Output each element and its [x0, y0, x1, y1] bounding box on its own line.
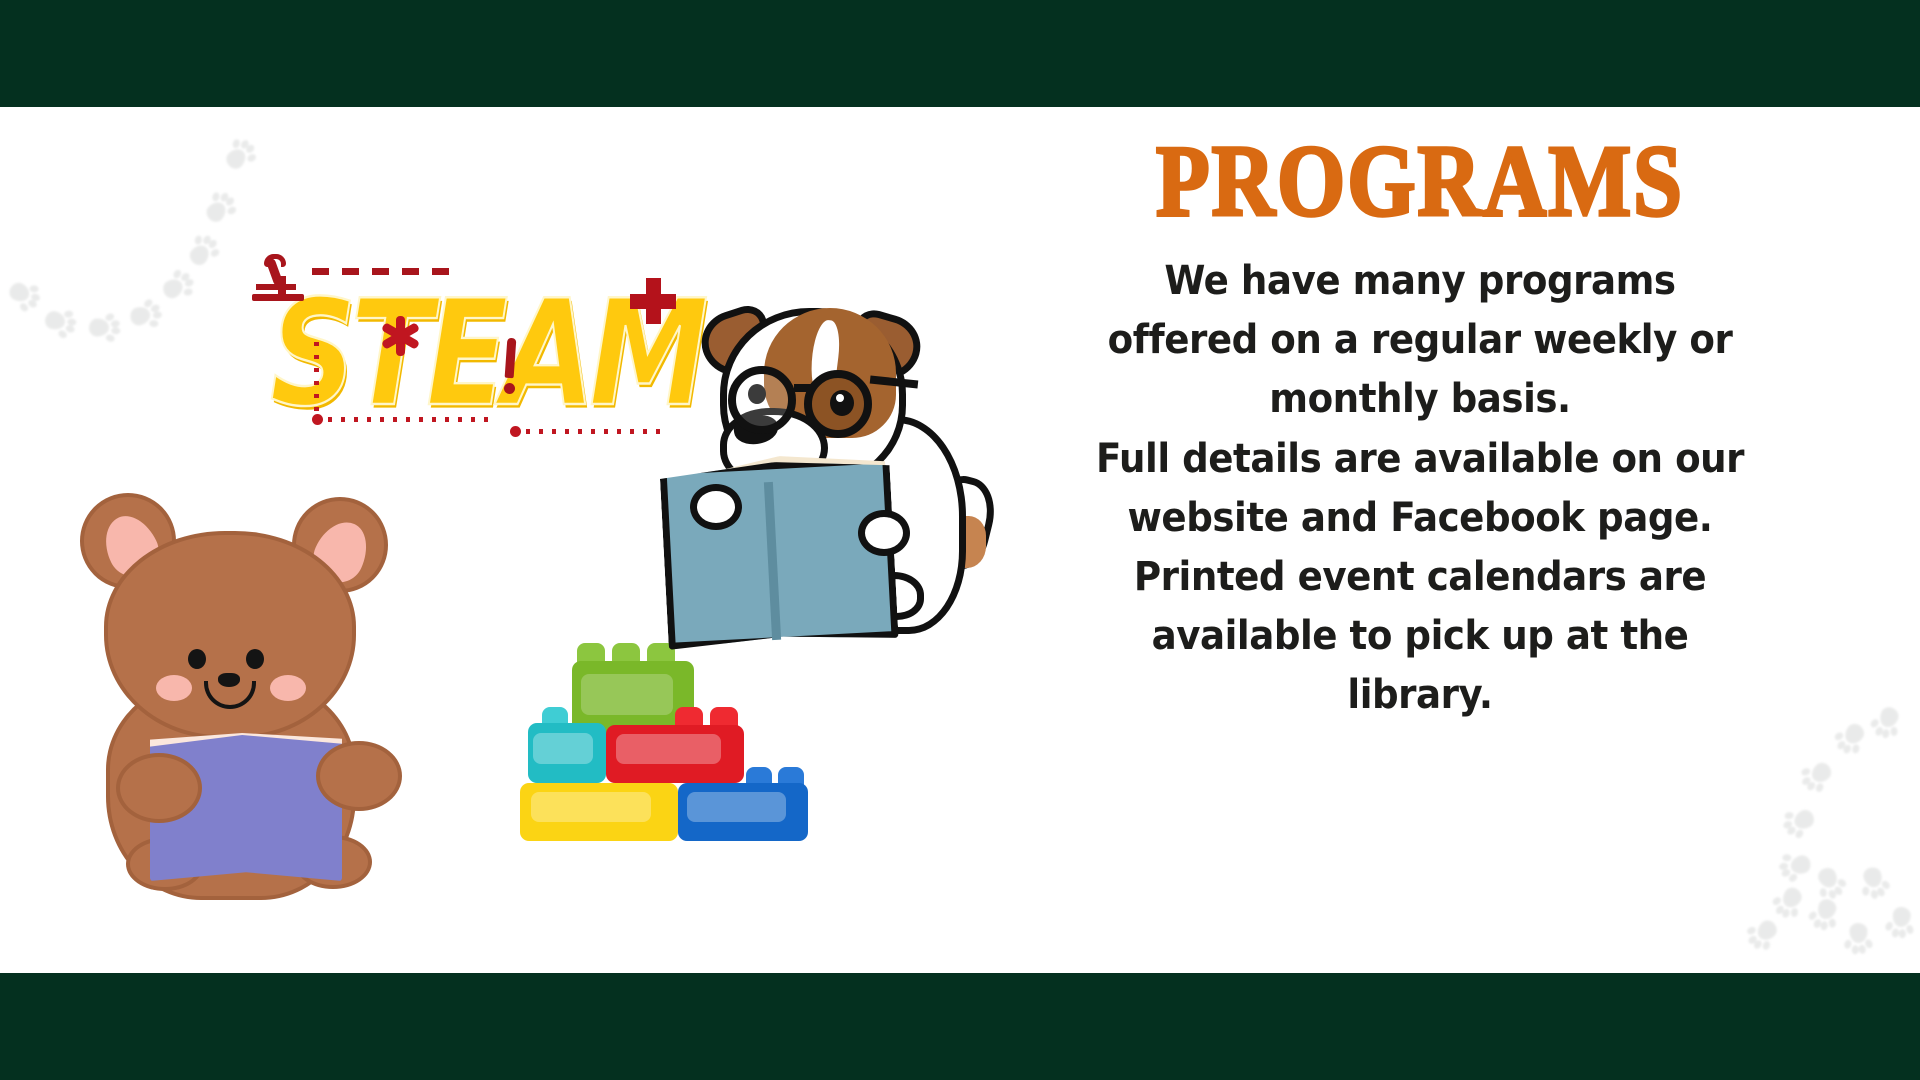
paw-print-icon — [4, 276, 46, 314]
paw-print-icon — [1869, 703, 1905, 744]
dog-reading-illustration — [672, 286, 1012, 656]
page-title: PROGRAMS — [1012, 130, 1828, 231]
dotted-trail-decoration — [312, 416, 492, 422]
asterisk-icon — [380, 316, 420, 356]
glasses-lens-left-icon — [728, 366, 796, 434]
dog-paw-right — [858, 510, 910, 556]
paw-print-icon — [1845, 921, 1873, 957]
steam-logo: STEAM — [252, 260, 702, 450]
bear-eye-left — [188, 649, 206, 669]
slide-canvas: STEAM — [0, 0, 1920, 1080]
paw-print-icon — [157, 265, 200, 306]
block-blue — [678, 783, 808, 841]
paw-print-icon — [87, 313, 123, 341]
body-line: offered on a regular weekly or — [1048, 311, 1792, 370]
body-line: Printed event calendars are — [1048, 548, 1792, 607]
paw-print-icon — [1778, 803, 1821, 843]
paw-print-icon — [1857, 863, 1893, 904]
bear-cheek-left — [156, 675, 192, 701]
paw-print-icon — [1886, 905, 1915, 942]
body-line: monthly basis. — [1048, 370, 1792, 429]
building-blocks-illustration — [520, 635, 830, 850]
block-teal — [528, 723, 606, 783]
bear-arm-left — [116, 753, 202, 823]
microscope-icon — [252, 254, 308, 306]
dotted-line-decoration — [314, 342, 319, 414]
bear-eye-right — [246, 649, 264, 669]
dotted-trail-decoration — [510, 428, 670, 434]
dog-paw-left — [690, 484, 742, 530]
exclamation-icon — [504, 338, 516, 396]
paw-print-icon — [41, 305, 80, 338]
dog-eye-highlight — [836, 394, 844, 402]
top-band — [0, 0, 1920, 107]
block-red — [606, 725, 744, 783]
body-line: website and Facebook page. — [1048, 489, 1792, 548]
paw-print-icon — [1775, 849, 1816, 885]
bear-arm-right — [316, 741, 402, 811]
body-paragraph: We have many programs offered on a regul… — [1048, 252, 1792, 726]
body-line: available to pick up at the — [1048, 607, 1792, 666]
glasses-bridge-icon — [794, 384, 812, 392]
paw-print-icon — [126, 296, 166, 331]
paw-print-icon — [199, 186, 240, 229]
paw-print-icon — [1807, 895, 1842, 935]
paw-print-icon — [1742, 914, 1784, 957]
paw-print-icon — [1769, 882, 1809, 924]
paw-print-icon — [1796, 756, 1839, 798]
dashed-line-decoration — [312, 268, 462, 275]
paw-print-icon — [1831, 718, 1872, 761]
paw-print-icon — [219, 133, 261, 176]
body-line: We have many programs — [1048, 252, 1792, 311]
body-line: Full details are available on our — [1048, 430, 1792, 489]
plus-icon — [630, 278, 676, 324]
block-yellow — [520, 783, 678, 841]
paw-print-icon — [1811, 862, 1851, 904]
body-line: library. — [1048, 666, 1792, 725]
bottom-band — [0, 973, 1920, 1080]
paw-print-icon — [183, 229, 224, 272]
teddy-bear-illustration — [78, 485, 398, 900]
bear-cheek-right — [270, 675, 306, 701]
text-column: PROGRAMS We have many programs offered o… — [1020, 130, 1820, 726]
